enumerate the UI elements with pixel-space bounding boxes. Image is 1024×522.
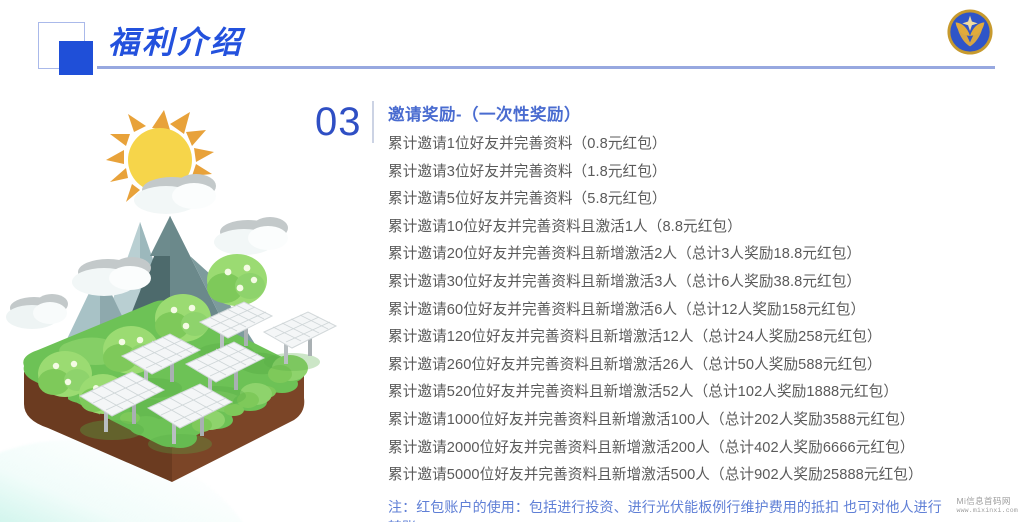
solar-farm-isometric-illustration [4, 104, 344, 494]
list-item: 累计邀请3位好友并完善资料（1.8元红包） [388, 159, 1022, 187]
header-solid-square-decoration [59, 41, 93, 75]
list-item: 累计邀请1000位好友并完善资料且新增激活100人（总计202人奖励3588元红… [388, 407, 1022, 435]
section-number: 03 [315, 99, 362, 145]
list-item: 累计邀请1位好友并完善资料（0.8元红包） [388, 131, 1022, 159]
list-item: 累计邀请20位好友并完善资料且新增激活2人（总计3人奖励18.8元红包） [388, 241, 1022, 269]
list-item: 累计邀请30位好友并完善资料且新增激活3人（总计6人奖励38.8元红包） [388, 269, 1022, 297]
list-item: 累计邀请60位好友并完善资料且新增激活6人（总计12人奖励158元红包） [388, 297, 1022, 325]
watermark: Mi信息首码网 www.mixinxi.com [956, 497, 1018, 514]
list-item: 累计邀请5000位好友并完善资料且新增激活500人（总计902人奖励25888元… [388, 462, 1022, 490]
company-emblem-icon [946, 8, 994, 56]
section-content: 邀请奖励-（一次性奖励） 累计邀请1位好友并完善资料（0.8元红包） 累计邀请3… [388, 103, 1022, 522]
reward-tier-list: 累计邀请1位好友并完善资料（0.8元红包） 累计邀请3位好友并完善资料（1.8元… [388, 131, 1022, 490]
watermark-site-url: www.mixinxi.com [956, 507, 1018, 514]
slide-canvas: 福利介绍 [0, 0, 1024, 522]
section-number-divider [372, 101, 374, 143]
section-heading: 邀请奖励-（一次性奖励） [388, 103, 1022, 127]
watermark-site-name: Mi信息首码网 [956, 497, 1018, 507]
header-divider-rule [97, 66, 995, 69]
solar-panel [264, 312, 336, 371]
section-note: 注：红包账户的使用：包括进行投资、进行光伏能板例行维护费用的抵扣 也可对他人进行… [388, 497, 948, 522]
page-title: 福利介绍 [108, 23, 244, 63]
list-item: 累计邀请260位好友并完善资料且新增激活26人（总计50人奖励588元红包） [388, 352, 1022, 380]
list-item: 累计邀请520位好友并完善资料且新增激活52人（总计102人奖励1888元红包） [388, 379, 1022, 407]
list-item: 累计邀请5位好友并完善资料（5.8元红包） [388, 186, 1022, 214]
list-item: 累计邀请120位好友并完善资料且新增激活12人（总计24人奖励258元红包） [388, 324, 1022, 352]
list-item: 累计邀请2000位好友并完善资料且新增激活200人（总计402人奖励6666元红… [388, 435, 1022, 463]
list-item: 累计邀请10位好友并完善资料且激活1人（8.8元红包） [388, 214, 1022, 242]
